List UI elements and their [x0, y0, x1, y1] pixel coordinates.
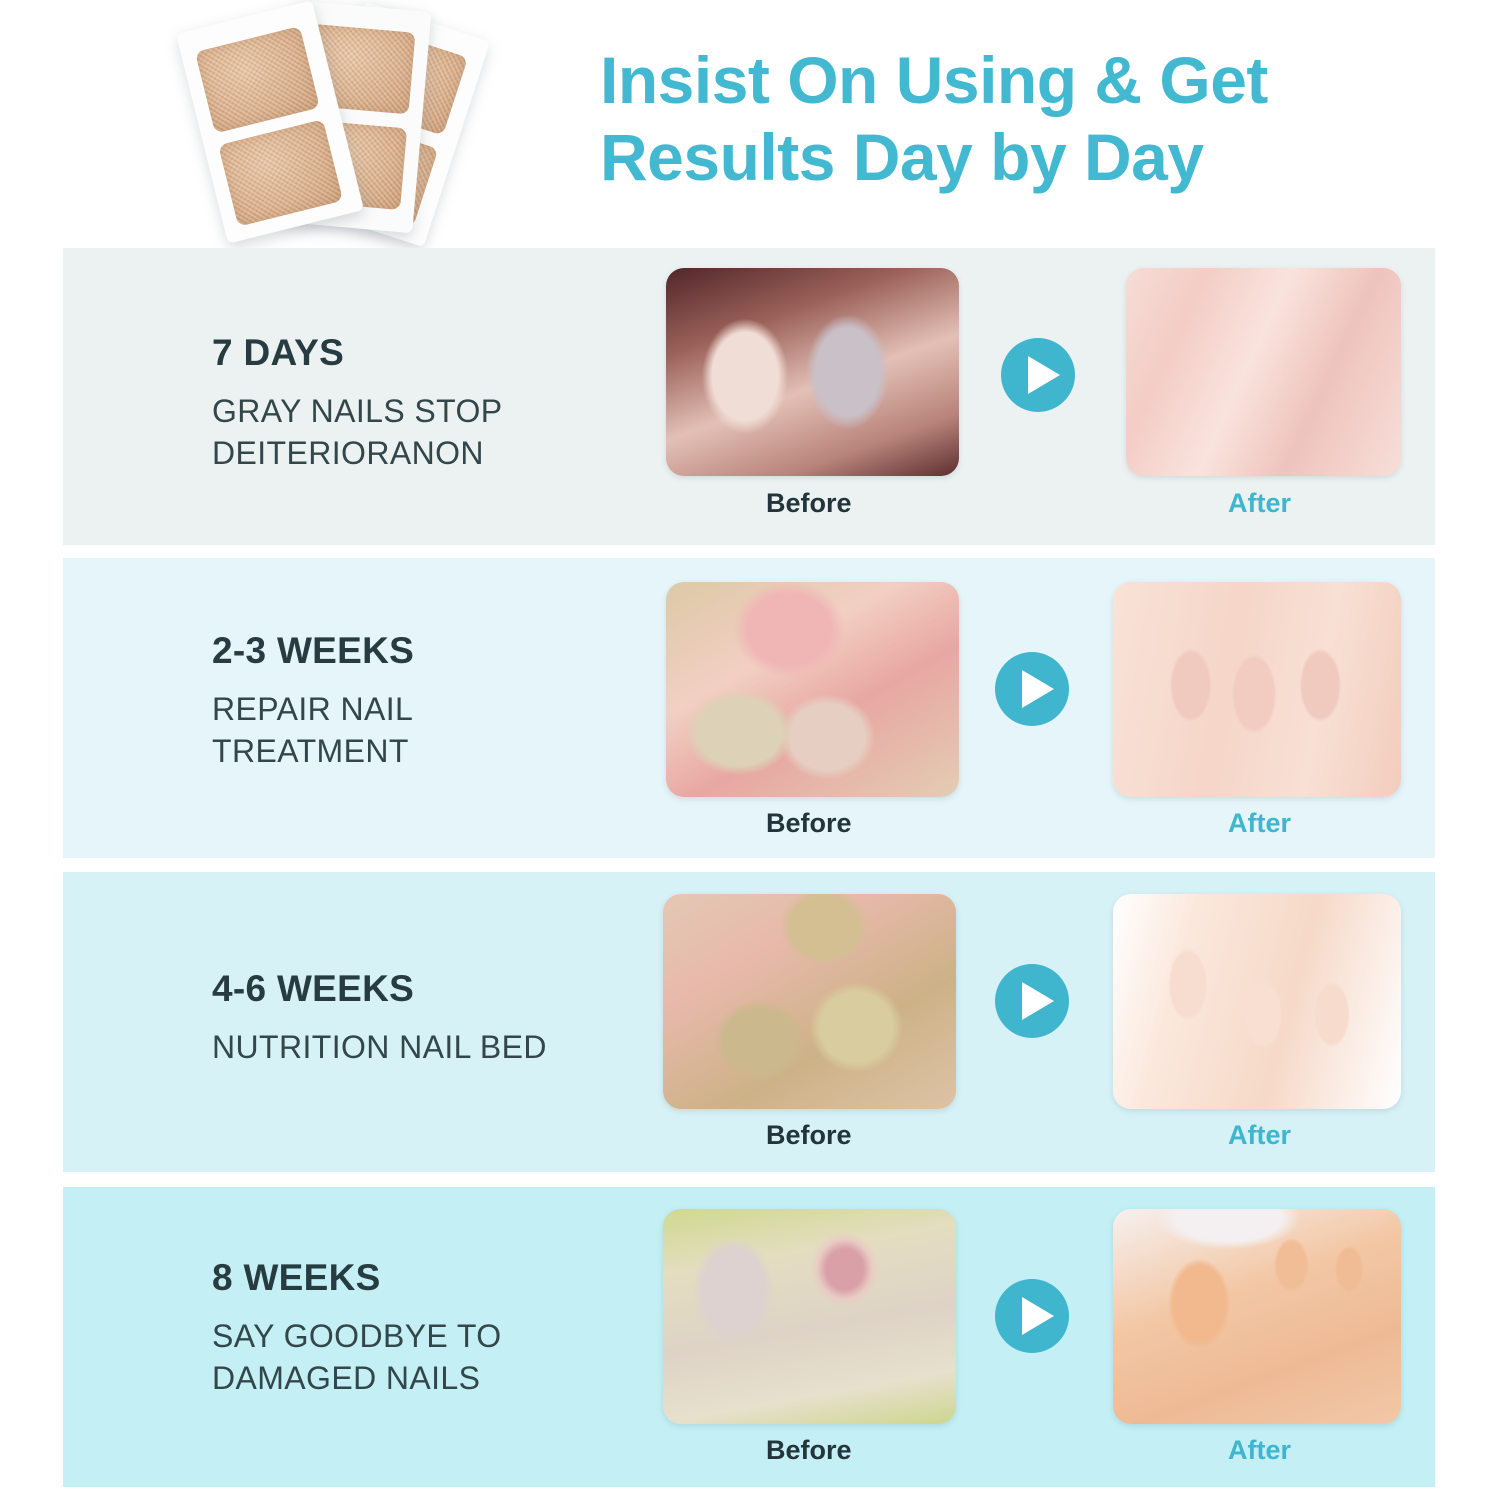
before-photo	[663, 894, 956, 1109]
play-arrow-icon	[995, 964, 1069, 1038]
adhesive-patch	[218, 119, 343, 227]
after-photo	[1113, 1209, 1401, 1424]
header: Insist On Using & Get Results Day by Day	[0, 0, 1500, 248]
stage-description-line-2: DAMAGED NAILS	[212, 1357, 502, 1399]
row-text-block: 2-3 WEEKS REPAIR NAIL TREATMENT	[212, 630, 414, 772]
row-text-block: 8 WEEKS SAY GOODBYE TO DAMAGED NAILS	[212, 1257, 502, 1399]
page-title: Insist On Using & Get Results Day by Day	[600, 42, 1420, 196]
before-caption: Before	[766, 1120, 852, 1151]
before-caption: Before	[766, 808, 852, 839]
row-text-block: 4-6 WEEKS NUTRITION NAIL BED	[212, 968, 547, 1068]
after-image-fill	[1113, 894, 1401, 1109]
nail-patch-product-art	[196, 6, 576, 256]
stage-description-line-1: GRAY NAILS STOP	[212, 390, 503, 432]
after-caption: After	[1228, 1120, 1291, 1151]
before-image-fill	[666, 268, 959, 476]
row-text-block: 7 DAYS GRAY NAILS STOP DEITERIORANON	[212, 332, 503, 474]
after-caption: After	[1228, 1435, 1291, 1466]
after-image-fill	[1113, 582, 1401, 797]
before-photo	[666, 582, 959, 797]
before-caption: Before	[766, 1435, 852, 1466]
stage-description-line-2: DEITERIORANON	[212, 432, 503, 474]
before-image-fill	[663, 1209, 956, 1424]
stage-description-line-1: REPAIR NAIL	[212, 688, 414, 730]
play-arrow-icon	[995, 1279, 1069, 1353]
timeline-row-2-3-weeks: 2-3 WEEKS REPAIR NAIL TREATMENT Before A…	[63, 558, 1435, 858]
stage-label: 8 WEEKS	[212, 1257, 502, 1299]
stage-description-line-1: NUTRITION NAIL BED	[212, 1026, 547, 1068]
infographic-page: Insist On Using & Get Results Day by Day…	[0, 0, 1500, 1500]
after-photo	[1113, 582, 1401, 797]
adhesive-patch	[195, 26, 320, 134]
stage-description-line-1: SAY GOODBYE TO	[212, 1315, 502, 1357]
stage-description: REPAIR NAIL TREATMENT	[212, 688, 414, 772]
before-photo	[663, 1209, 956, 1424]
play-arrow-icon	[995, 652, 1069, 726]
stage-description: NUTRITION NAIL BED	[212, 1026, 547, 1068]
page-title-line-1: Insist On Using & Get	[600, 42, 1420, 119]
after-caption: After	[1228, 488, 1291, 519]
after-caption: After	[1228, 808, 1291, 839]
page-title-line-2: Results Day by Day	[600, 119, 1420, 196]
before-photo	[666, 268, 959, 476]
after-photo	[1113, 894, 1401, 1109]
after-photo	[1126, 268, 1401, 476]
stage-label: 2-3 WEEKS	[212, 630, 414, 672]
stage-description: SAY GOODBYE TO DAMAGED NAILS	[212, 1315, 502, 1399]
after-image-fill	[1113, 1209, 1401, 1424]
timeline-row-7-days: 7 DAYS GRAY NAILS STOP DEITERIORANON Bef…	[63, 248, 1435, 545]
before-image-fill	[666, 582, 959, 797]
after-image-fill	[1126, 268, 1401, 476]
before-caption: Before	[766, 488, 852, 519]
stage-label: 4-6 WEEKS	[212, 968, 547, 1010]
stage-description: GRAY NAILS STOP DEITERIORANON	[212, 390, 503, 474]
stage-label: 7 DAYS	[212, 332, 503, 374]
play-arrow-icon	[1001, 338, 1075, 412]
stage-description-line-2: TREATMENT	[212, 730, 414, 772]
timeline-row-4-6-weeks: 4-6 WEEKS NUTRITION NAIL BED Before Afte…	[63, 872, 1435, 1172]
before-image-fill	[663, 894, 956, 1109]
timeline-row-8-weeks: 8 WEEKS SAY GOODBYE TO DAMAGED NAILS Bef…	[63, 1187, 1435, 1487]
